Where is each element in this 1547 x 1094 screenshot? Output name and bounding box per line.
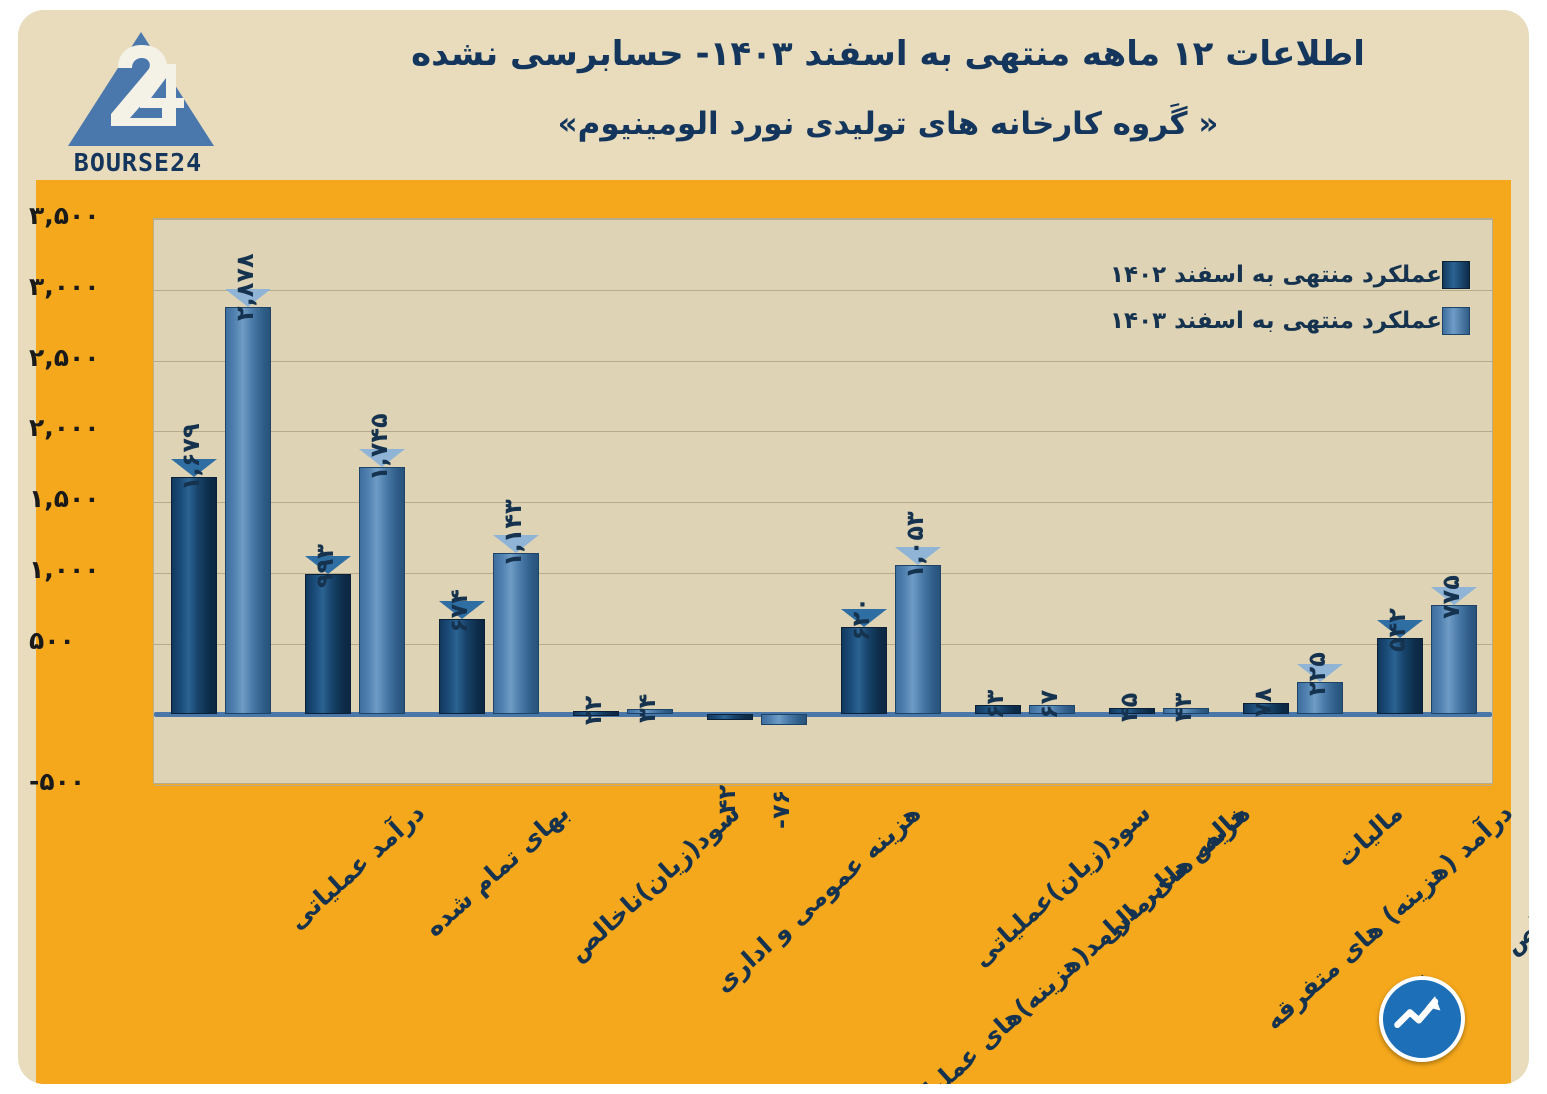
gridline (154, 502, 1492, 503)
bar-value-label: ۱,۶۷۹ (177, 423, 205, 491)
zero-axis-line (154, 712, 1492, 717)
x-axis-category-label: هزینه عمومی و اداری (709, 798, 927, 998)
y-axis-tick-label: ۵۰۰ (29, 626, 149, 655)
bar-value-label: ۱,۱۴۳ (499, 499, 527, 567)
bar-value-label: ۷۸ (1249, 688, 1277, 717)
y-axis-tick-label: ۲,۰۰۰ (29, 413, 149, 442)
corner-badge (1261, 924, 1511, 1084)
y-axis-tick-label: ۲,۵۰۰ (29, 343, 149, 372)
y-axis-tick-label: ۳,۵۰۰ (29, 201, 149, 230)
bar-value-label: ۵۴۲ (1383, 608, 1411, 652)
page-subtitle: « گَروه کارخانه های تولیدی نورد الومینیو… (273, 104, 1503, 144)
y-axis-tick-label: ۳,۰۰۰ (29, 272, 149, 301)
bar-series1[interactable] (305, 574, 351, 715)
y-axis-tick-label: -۵۰۰ (29, 767, 149, 796)
legend: عملکرد منتهی به اسفند ۱۴۰۲ عملکرد منتهی … (1030, 261, 1470, 353)
bar-value-label: -۷۶ (767, 790, 795, 829)
bar-value-label: ۱,۰۵۳ (901, 512, 929, 580)
bar-value-label: ۶۷۴ (445, 589, 473, 633)
bar-series2[interactable] (225, 307, 271, 714)
bar-body (305, 574, 351, 715)
gridline (154, 573, 1492, 574)
bar-series1[interactable] (171, 477, 217, 715)
bar-value-label: ۶۲۰ (847, 597, 875, 641)
legend-item-series1: عملکرد منتهی به اسفند ۱۴۰۲ (1030, 261, 1470, 289)
x-axis-category-label: مالیات (1330, 798, 1408, 872)
legend-swatch-series2-icon (1442, 307, 1470, 335)
bar-body (171, 477, 217, 715)
bar-series1[interactable] (707, 714, 753, 720)
bar-value-label: ۶۷ (1035, 689, 1063, 718)
logo-wordmark: BOURSE24 (48, 148, 228, 177)
gridline (154, 431, 1492, 432)
bar-value-label: ۲۲۵ (1303, 652, 1331, 696)
gridline (154, 644, 1492, 645)
bourse24-logo: BOURSE24 (48, 30, 228, 175)
legend-swatch-series1-icon (1442, 261, 1470, 289)
bar-body (1431, 605, 1477, 715)
chart-card: BOURSE24 اطلاعات ۱۲ ماهه منتهی به اسفند … (18, 10, 1529, 1084)
bar-value-label: ۳۴ (633, 694, 661, 723)
y-axis-tick-label: ۱,۰۰۰ (29, 555, 149, 584)
bar-series1[interactable] (439, 619, 485, 714)
bar-series2[interactable] (895, 565, 941, 714)
bar-value-label: ۷۷۵ (1437, 575, 1465, 619)
page-title: اطلاعات ۱۲ ماهه منتهی به اسفند ۱۴۰۳- حسا… (273, 32, 1503, 76)
triangle-24-logo-icon (66, 30, 216, 148)
legend-item-series2: عملکرد منتهی به اسفند ۱۴۰۳ (1030, 307, 1470, 335)
y-axis-tick-label: ۱,۵۰۰ (29, 484, 149, 513)
bar-body (225, 307, 271, 714)
chart-panel: ۳,۵۰۰۳,۰۰۰۲,۵۰۰۲,۰۰۰۱,۵۰۰۱,۰۰۰۵۰۰-۵۰۰ ۱,… (36, 180, 1511, 1084)
bar-body (493, 553, 539, 715)
bar-value-label: ۲,۸۷۸ (231, 253, 259, 321)
bar-value-label: ۹۹۳ (311, 544, 339, 588)
bar-body (439, 619, 485, 714)
bar-series2[interactable] (359, 467, 405, 714)
gridline (154, 785, 1492, 786)
x-axis-category-label: سود(زیان)عملیاتی (967, 798, 1156, 973)
bar-body (707, 714, 753, 720)
legend-label-series1: عملکرد منتهی به اسفند ۱۴۰۲ (1110, 262, 1442, 288)
x-axis-category-label: بهای تمام شده (419, 798, 575, 942)
bar-value-label: ۱,۷۴۵ (365, 414, 393, 482)
bar-body (761, 714, 807, 725)
bar-value-label: ۶۳ (981, 690, 1009, 719)
title-block: اطلاعات ۱۲ ماهه منتهی به اسفند ۱۴۰۳- حسا… (273, 32, 1503, 144)
trend-up-circle-icon (1379, 976, 1465, 1062)
bar-series2[interactable] (493, 553, 539, 715)
gridline (154, 361, 1492, 362)
bar-value-label: ۲۲ (579, 696, 607, 725)
bar-body (895, 565, 941, 714)
gridline (154, 219, 1492, 220)
bar-value-label: ۴۵ (1115, 693, 1143, 722)
x-axis-category-label: درآمد عملیاتی (282, 798, 430, 935)
plot-area: ۱,۶۷۹۲,۸۷۸۹۹۳۱,۷۴۵۶۷۴۱,۱۴۳۲۲۳۴-۴۲-۷۶۶۲۰۱… (153, 218, 1493, 784)
bar-value-label: ۴۳ (1169, 693, 1197, 722)
x-axis-category-label: سود(زیان)ناخالص (563, 798, 746, 967)
bar-series2[interactable] (1431, 605, 1477, 715)
legend-label-series2: عملکرد منتهی به اسفند ۱۴۰۳ (1110, 308, 1442, 334)
bar-body (359, 467, 405, 714)
bar-series2[interactable] (761, 714, 807, 725)
